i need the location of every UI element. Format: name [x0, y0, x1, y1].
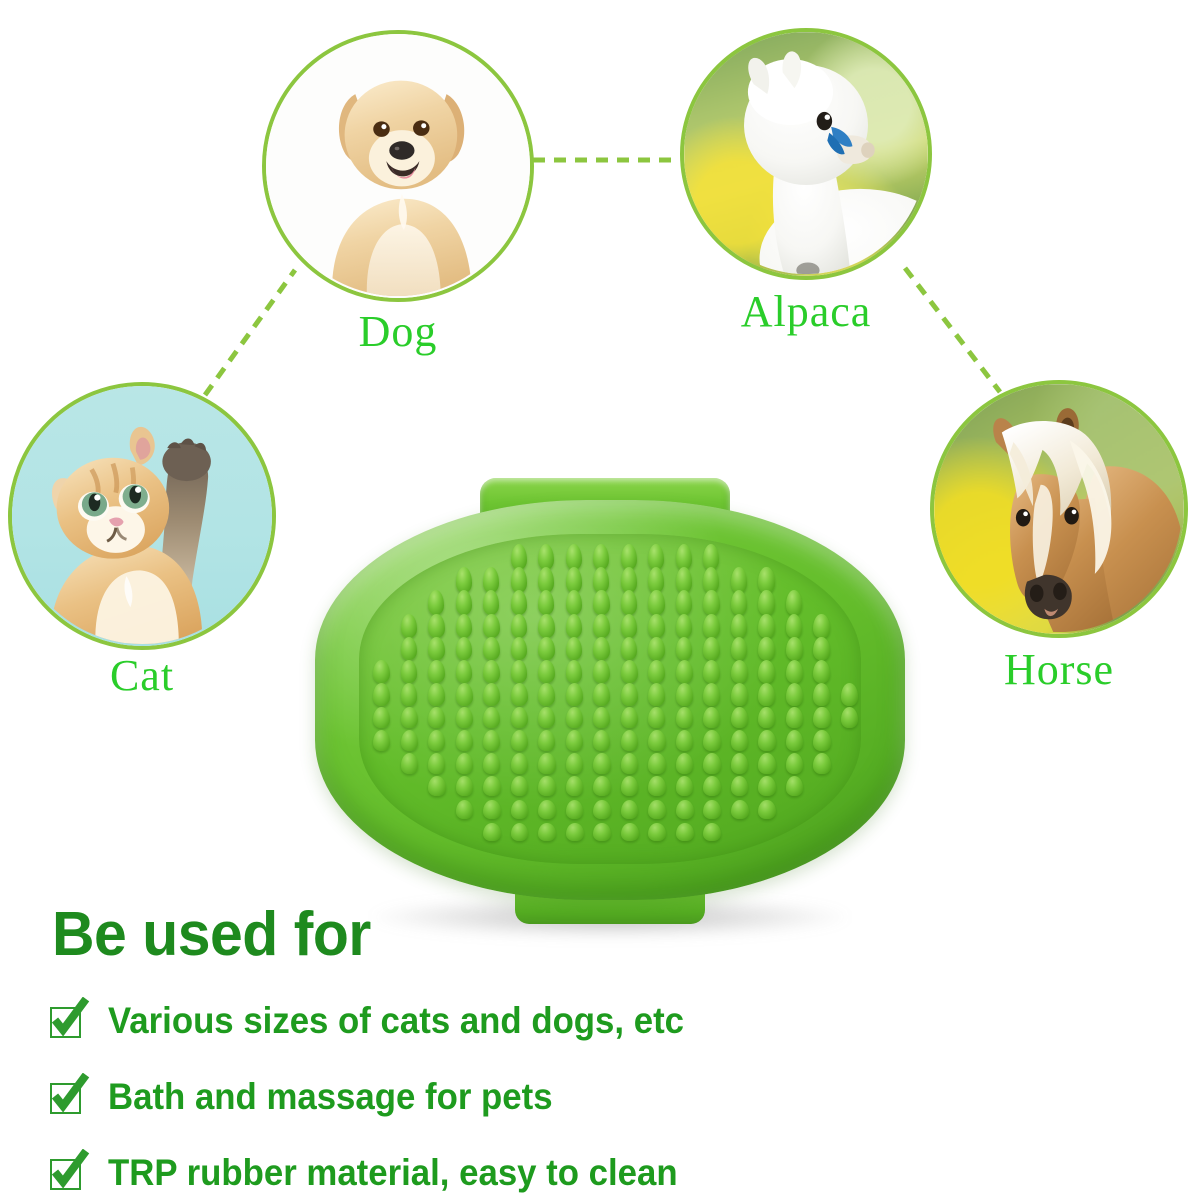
brush-nub [648, 707, 665, 729]
brush-nub [758, 660, 775, 683]
brush-nub [401, 614, 417, 638]
brush-nub [731, 707, 748, 729]
brush-nub [648, 544, 664, 570]
brush-nub [428, 614, 444, 638]
brush-nub [648, 637, 665, 661]
brush-nub [786, 660, 803, 683]
list-item: Various sizes of cats and dogs, etc [48, 990, 1138, 1050]
brush-nub [428, 753, 445, 773]
brush-nub [593, 614, 609, 638]
brush-nub [676, 776, 694, 796]
list-item: Bath and massage for pets [48, 1066, 1138, 1126]
brush-nub [676, 544, 692, 570]
brush-nub [621, 660, 638, 683]
brush-nub [621, 800, 639, 819]
brush-nub [401, 683, 418, 705]
brush-nub [483, 683, 500, 705]
brush-nub [593, 823, 611, 842]
brush-nub [786, 614, 802, 638]
brush-nub [703, 823, 721, 842]
brush-nub [566, 544, 582, 570]
brush-nub [511, 683, 528, 705]
brush-nub [758, 590, 774, 615]
checkbox-checked-icon [48, 1077, 86, 1115]
dog-illustration [266, 34, 530, 298]
brush-nub [676, 800, 694, 819]
brush-nub [786, 590, 802, 615]
brush-nub [566, 660, 583, 683]
animal-node-cat[interactable]: Cat [8, 382, 276, 650]
brush-nub [566, 614, 582, 638]
brush-nub [456, 730, 473, 751]
brush-nub [731, 730, 748, 751]
brush-nub [511, 660, 528, 683]
animal-node-dog[interactable]: Dog [262, 30, 534, 302]
brush-nub [703, 590, 719, 615]
brush-nub [538, 660, 555, 683]
animal-node-horse[interactable]: Horse [930, 380, 1188, 638]
horse-label: Horse [930, 648, 1188, 692]
brush-nub [786, 730, 803, 751]
brush-nub [538, 567, 554, 592]
brush-nub [786, 683, 803, 705]
brush-nub [731, 683, 748, 705]
page-title: Be used for [52, 904, 371, 966]
brush-nub [428, 590, 444, 615]
brush-nub [758, 683, 775, 705]
brush-nub [621, 753, 638, 773]
brush-nub [483, 614, 499, 638]
brush-nub [538, 614, 554, 638]
brush-nub [703, 660, 720, 683]
brush-nub [593, 567, 609, 592]
brush-nub [731, 567, 747, 592]
brush-nub [456, 800, 474, 819]
brush-nub [428, 683, 445, 705]
brush-nub [428, 637, 445, 661]
brush-nub [511, 590, 527, 615]
brush-nub [428, 660, 445, 683]
checkbox-checked-icon [48, 1001, 86, 1039]
brush-nub [648, 800, 666, 819]
brush-nub [593, 800, 611, 819]
brush-nub [456, 614, 472, 638]
brush-nub [621, 823, 639, 842]
brush-nub [538, 590, 554, 615]
brush-nub [758, 800, 776, 819]
brush-nub [456, 753, 473, 773]
brush-nub [401, 730, 418, 751]
dog-label: Dog [262, 310, 534, 354]
brush-nub [703, 730, 720, 751]
animal-node-alpaca[interactable]: Alpaca [680, 28, 932, 280]
benefit-text: TRP rubber material, easy to clean [108, 1154, 678, 1191]
brush-nub [511, 544, 527, 570]
brush-nub [593, 660, 610, 683]
brush-nub [731, 590, 747, 615]
brush-nub [813, 753, 830, 773]
brush-nub [731, 637, 748, 661]
alpaca-photo-circle [680, 28, 932, 280]
brush-nub [621, 707, 638, 729]
brush-nub [758, 753, 775, 773]
brush-nub [593, 753, 610, 773]
brush-nub [758, 707, 775, 729]
brush-nub [648, 567, 664, 592]
brush-nub [483, 800, 501, 819]
brush-nub [676, 614, 692, 638]
brush-nub [703, 544, 719, 570]
brush-nub [648, 823, 666, 842]
brush-nub [758, 567, 774, 592]
brush-nub [703, 707, 720, 729]
brush-nub [731, 660, 748, 683]
brush-bristle-pad [359, 534, 861, 864]
alpaca-label: Alpaca [680, 290, 932, 334]
brush-nub [676, 730, 693, 751]
brush-nub [566, 730, 583, 751]
brush-nub [566, 707, 583, 729]
brush-nub [758, 776, 776, 796]
brush-nub [676, 823, 694, 842]
list-item: TRP rubber material, easy to clean [48, 1142, 1138, 1200]
brush-nub [621, 544, 637, 570]
brush-nub [538, 730, 555, 751]
benefits-list: Various sizes of cats and dogs, etc Bath… [48, 990, 1138, 1200]
brush-nub [538, 753, 555, 773]
brush-nub [621, 567, 637, 592]
brush-nub [676, 637, 693, 661]
brush-nub [758, 614, 774, 638]
brush-nub [786, 776, 804, 796]
brush-nub [373, 730, 390, 751]
brush-nub [511, 823, 529, 842]
brush-nub [538, 776, 556, 796]
brush-nub [703, 567, 719, 592]
brush-nub [511, 707, 528, 729]
brush-nub [703, 753, 720, 773]
brush-nub [648, 776, 666, 796]
checkbox-checked-icon [48, 1153, 86, 1191]
brush-nub [758, 637, 775, 661]
brush-nub [483, 753, 500, 773]
alpaca-illustration [684, 32, 928, 276]
brush-nub [511, 567, 527, 592]
brush-nub [401, 660, 418, 683]
brush-nub [456, 660, 473, 683]
brush-nub [841, 683, 858, 705]
brush-nub [538, 637, 555, 661]
brush-nub [456, 637, 473, 661]
brush-nub [511, 776, 529, 796]
brush-nub [593, 776, 611, 796]
brush-nub [428, 730, 445, 751]
brush-body [315, 500, 905, 900]
brush-nub [373, 707, 390, 729]
brush-nub [593, 637, 610, 661]
brush-nub [593, 683, 610, 705]
brush-nub [676, 590, 692, 615]
cat-photo-circle [8, 382, 276, 650]
brush-nub [648, 730, 665, 751]
brush-nub [566, 823, 584, 842]
brush-nub [511, 800, 529, 819]
brush-nub [621, 614, 637, 638]
brush-nub [621, 590, 637, 615]
brush-nub [456, 567, 472, 592]
brush-nub [428, 776, 446, 796]
brush-nub [731, 800, 749, 819]
brush-nub [401, 637, 418, 661]
brush-nub [676, 660, 693, 683]
brush-nub [538, 544, 554, 570]
brush-nub [401, 707, 418, 729]
brush-nub [456, 683, 473, 705]
brush-nub [703, 614, 719, 638]
brush-nub [483, 776, 501, 796]
brush-nub [538, 800, 556, 819]
brush-nub [511, 730, 528, 751]
brush-nub [621, 730, 638, 751]
brush-nub [813, 614, 829, 638]
brush-nub [483, 590, 499, 615]
brush-nub [813, 660, 830, 683]
brush-nub [373, 683, 390, 705]
brush-nub [758, 730, 775, 751]
brush-nub [731, 776, 749, 796]
product-image-bath-brush[interactable] [300, 470, 920, 930]
brush-nub [703, 683, 720, 705]
brush-nub [538, 683, 555, 705]
brush-nub [648, 614, 664, 638]
brush-nub [456, 776, 474, 796]
brush-nub [648, 590, 664, 615]
brush-nub [731, 614, 747, 638]
brush-nub [786, 707, 803, 729]
brush-nub [511, 637, 528, 661]
brush-nub [621, 776, 639, 796]
brush-nub [456, 590, 472, 615]
benefit-text: Bath and massage for pets [108, 1078, 553, 1115]
brush-nub [813, 683, 830, 705]
brush-nub [621, 637, 638, 661]
cat-label: Cat [8, 654, 276, 698]
brush-nub [538, 707, 555, 729]
benefit-text: Various sizes of cats and dogs, etc [108, 1002, 684, 1039]
brush-nub-field [359, 534, 861, 864]
brush-nub [813, 707, 830, 729]
brush-nub [566, 683, 583, 705]
brush-nub [676, 707, 693, 729]
brush-nub [593, 730, 610, 751]
brush-nub [483, 823, 501, 842]
brush-nub [648, 753, 665, 773]
horse-photo-circle [930, 380, 1188, 638]
brush-nub [566, 637, 583, 661]
brush-nub [813, 637, 830, 661]
brush-nub [401, 753, 418, 773]
dog-photo-circle [262, 30, 534, 302]
brush-nub [593, 544, 609, 570]
brush-nub [456, 707, 473, 729]
brush-nub [566, 776, 584, 796]
brush-nub [841, 707, 858, 729]
brush-nub [566, 753, 583, 773]
brush-nub [483, 637, 500, 661]
brush-nub [428, 707, 445, 729]
brush-nub [483, 567, 499, 592]
brush-nub [566, 800, 584, 819]
brush-nub [483, 660, 500, 683]
brush-nub [731, 753, 748, 773]
brush-nub [566, 590, 582, 615]
brush-nub [703, 776, 721, 796]
brush-nub [813, 730, 830, 751]
brush-nub [621, 683, 638, 705]
brush-nub [703, 800, 721, 819]
brush-nub [483, 730, 500, 751]
brush-nub [676, 753, 693, 773]
brush-nub [566, 567, 582, 592]
infographic-page: Dog [0, 0, 1200, 1200]
brush-nub [676, 567, 692, 592]
brush-nub [703, 637, 720, 661]
brush-nub [538, 823, 556, 842]
brush-nub [511, 614, 527, 638]
horse-illustration [934, 384, 1184, 634]
brush-nub [648, 660, 665, 683]
brush-nub [593, 590, 609, 615]
brush-nub [373, 660, 390, 683]
brush-nub [786, 753, 803, 773]
brush-nub [648, 683, 665, 705]
brush-nub [511, 753, 528, 773]
cat-illustration [12, 386, 272, 646]
brush-nub [786, 637, 803, 661]
brush-nub [676, 683, 693, 705]
brush-nub [593, 707, 610, 729]
brush-nub [483, 707, 500, 729]
